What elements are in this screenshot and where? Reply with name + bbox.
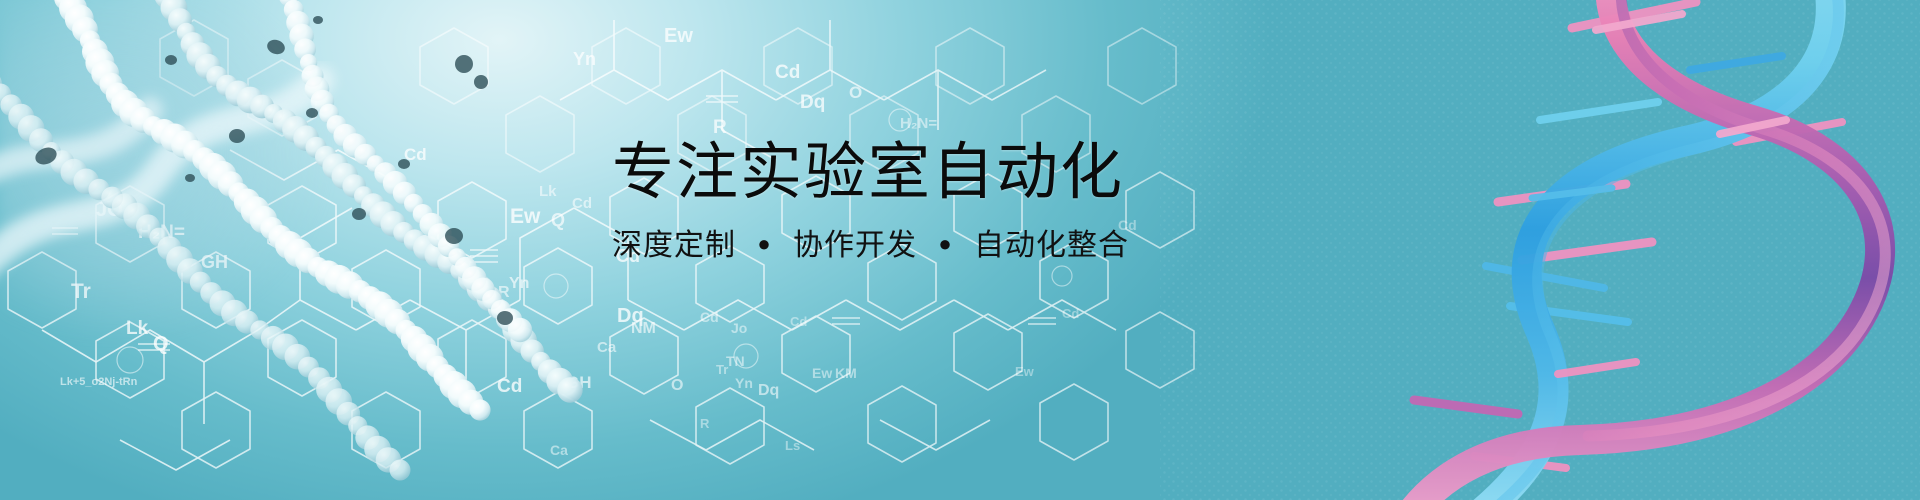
chem-label: KM (835, 365, 857, 381)
chem-label: Ew (1015, 364, 1035, 379)
page-title: 专注实验室自动化 (612, 140, 1332, 206)
chem-label: Dq (800, 92, 825, 113)
ribbon-dna-helix (1390, 0, 1920, 500)
chem-label: Ls (785, 438, 800, 453)
dna-bead (469, 399, 490, 420)
chem-label: H₂N= (900, 115, 937, 132)
subtitle-part-2: 协作开发 (793, 229, 917, 262)
chem-label: Dq (758, 382, 779, 399)
chem-label: R (713, 117, 727, 138)
dna-bead (390, 460, 411, 481)
chem-label: R (700, 416, 710, 431)
chem-label: Cd (775, 62, 800, 83)
chem-label: Cd (700, 309, 719, 325)
bead-dna-helix (0, 0, 680, 500)
hero-copy: 专注实验室自动化 深度定制 ● 协作开发 ● 自动化整合 (612, 140, 1332, 264)
chem-label: Jo (731, 320, 747, 336)
chem-label: Ew (812, 365, 832, 381)
subtitle-part-3: 自动化整合 (974, 229, 1129, 262)
dna-bead (557, 377, 582, 402)
bullet-separator-icon: ● (757, 231, 771, 257)
bullet-separator-icon: ● (938, 231, 952, 257)
chem-label: TN (726, 353, 745, 369)
chem-label: Yn (735, 375, 753, 391)
chem-label: Cd (1062, 306, 1079, 321)
chem-label: Cd (790, 314, 807, 329)
chem-label: O (849, 83, 862, 102)
hero-banner: CdCdCdCdCdCdCdCdCdYnYnYnDqDqDqEwEwEwEwRR… (0, 0, 1920, 500)
page-subtitle: 深度定制 ● 协作开发 ● 自动化整合 (612, 228, 1332, 264)
subtitle-part-1: 深度定制 (612, 229, 736, 262)
